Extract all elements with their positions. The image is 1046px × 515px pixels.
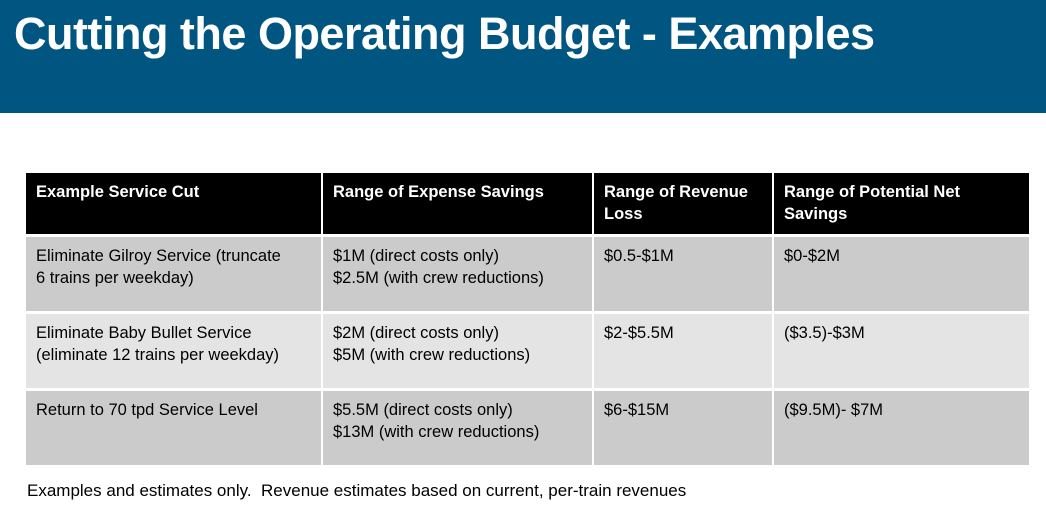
cell-revenue-loss: $6-$15M [594, 391, 772, 465]
cell-line: Eliminate Baby Bullet Service [36, 322, 312, 344]
cell-line: $2.5M (with crew reductions) [333, 267, 583, 289]
column-header-range-of-expense-savings: Range of Expense Savings [323, 173, 592, 234]
cell-revenue-loss: $0.5-$1M [594, 237, 772, 311]
cell-line: $13M (with crew reductions) [333, 421, 583, 443]
cell-service-cut: Eliminate Gilroy Service (truncate 6 tra… [26, 237, 321, 311]
cell-line: $2M (direct costs only) [333, 322, 583, 344]
budget-table-container: Example Service Cut Range of Expense Sav… [26, 173, 1033, 465]
table-row: Eliminate Gilroy Service (truncate 6 tra… [26, 237, 1029, 311]
cell-line: (eliminate 12 trains per weekday) [36, 344, 312, 366]
cell-expense-savings: $1M (direct costs only) $2.5M (with crew… [323, 237, 592, 311]
cell-line: Eliminate Gilroy Service (truncate [36, 245, 312, 267]
cell-line: $5.5M (direct costs only) [333, 399, 583, 421]
cell-line: Return to 70 tpd Service Level [36, 399, 312, 421]
cell-expense-savings: $5.5M (direct costs only) $13M (with cre… [323, 391, 592, 465]
cell-net-savings: ($3.5)-$3M [774, 314, 1029, 388]
cell-revenue-loss: $2-$5.5M [594, 314, 772, 388]
cell-expense-savings: $2M (direct costs only) $5M (with crew r… [323, 314, 592, 388]
cell-line: 6 trains per weekday) [36, 267, 312, 289]
footnote-text: Examples and estimates only. Revenue est… [27, 481, 686, 501]
page-title: Cutting the Operating Budget - Examples [14, 8, 1024, 60]
cell-service-cut: Eliminate Baby Bullet Service (eliminate… [26, 314, 321, 388]
table-row: Eliminate Baby Bullet Service (eliminate… [26, 314, 1029, 388]
column-header-example-service-cut: Example Service Cut [26, 173, 321, 234]
column-header-range-of-revenue-loss: Range of Revenue Loss [594, 173, 772, 234]
table-header-row: Example Service Cut Range of Expense Sav… [26, 173, 1029, 234]
table-body: Eliminate Gilroy Service (truncate 6 tra… [26, 237, 1029, 465]
cell-line: $1M (direct costs only) [333, 245, 583, 267]
cell-net-savings: ($9.5M)- $7M [774, 391, 1029, 465]
cell-net-savings: $0-$2M [774, 237, 1029, 311]
column-header-range-of-potential-net-savings: Range of Potential Net Savings [774, 173, 1029, 234]
table-header: Example Service Cut Range of Expense Sav… [26, 173, 1029, 234]
table-row: Return to 70 tpd Service Level $5.5M (di… [26, 391, 1029, 465]
cell-service-cut: Return to 70 tpd Service Level [26, 391, 321, 465]
slide: Cutting the Operating Budget - Examples … [0, 0, 1046, 515]
budget-table: Example Service Cut Range of Expense Sav… [24, 170, 1031, 468]
cell-line: $5M (with crew reductions) [333, 344, 583, 366]
title-banner: Cutting the Operating Budget - Examples [0, 0, 1046, 113]
